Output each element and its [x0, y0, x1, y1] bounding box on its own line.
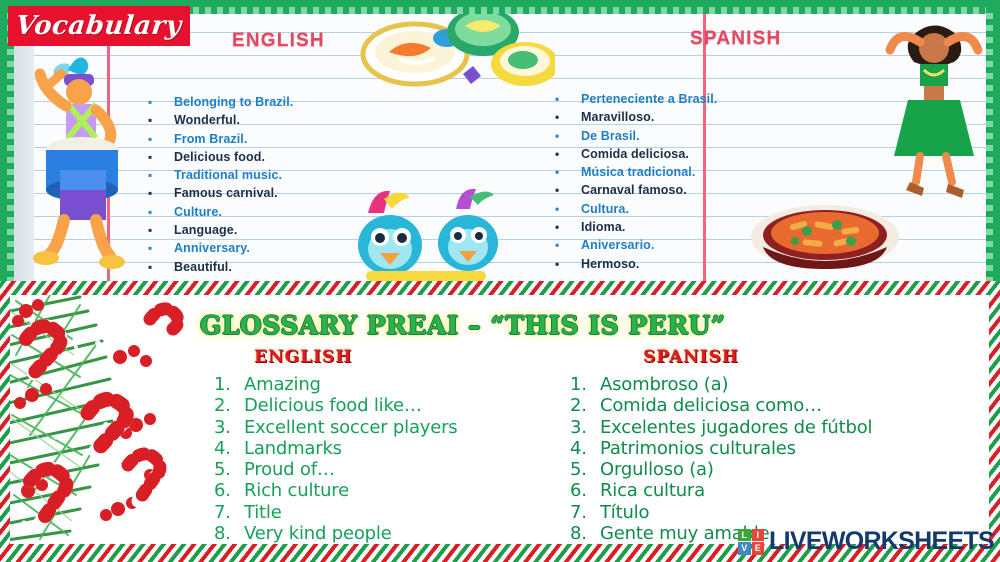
bullet-icon: ▪ — [148, 148, 174, 166]
bullet-icon: • — [555, 163, 581, 181]
glossary-item: 2.Delicious food like… — [214, 395, 554, 416]
glossary-item-label: Rica cultura — [600, 480, 705, 501]
worksheet-page: Vocabulary ENGLISH SPANISH ▪Belonging to… — [0, 0, 1000, 562]
bullet-icon: ▪ — [148, 203, 174, 221]
glossary-item: 1.Asombroso (a) — [570, 374, 950, 395]
bullet-icon: • — [555, 218, 581, 236]
glossary-item: 7.Title — [214, 502, 554, 523]
glossary-item-number: 5. — [570, 459, 600, 480]
vocabulary-item: •Idioma. — [555, 218, 835, 236]
glossary-item-label: Patrimonios culturales — [600, 438, 796, 459]
vocabulary-item-label: Carnaval famoso. — [581, 181, 687, 199]
vocabulary-item-label: Beautiful. — [174, 258, 232, 276]
spanish-column-header: SPANISH — [690, 28, 781, 50]
bullet-icon: • — [555, 127, 581, 145]
vocabulary-item-label: Maravilloso. — [581, 108, 654, 126]
vocabulary-item: ▪Language. — [148, 221, 398, 239]
glossary-item-label: Asombroso (a) — [600, 374, 728, 395]
glossary-item-number: 3. — [214, 417, 244, 438]
vocabulary-item-label: Language. — [174, 221, 237, 239]
vocabulary-item: ▪Anniversary. — [148, 239, 398, 257]
glossary-item: 5.Orgulloso (a) — [570, 459, 950, 480]
vocabulary-item: •Maravilloso. — [555, 108, 835, 126]
vocabulary-item: •Carnaval famoso. — [555, 181, 835, 199]
vocabulary-banner: Vocabulary — [8, 6, 190, 46]
glossary-item: 8.Very kind people — [214, 523, 554, 544]
glossary-item-number: 2. — [570, 395, 600, 416]
bullet-icon: ▪ — [148, 93, 174, 111]
glossary-panel: GLOSSARY PREAI – “THIS IS PERU” ENGLISH … — [0, 281, 1000, 562]
glossary-item: 2.Comida deliciosa como… — [570, 395, 950, 416]
vocabulary-item: •Comida deliciosa. — [555, 145, 835, 163]
glossary-title: GLOSSARY PREAI – “THIS IS PERU” — [200, 311, 726, 340]
glossary-english-header: ENGLISH — [254, 347, 352, 367]
bullet-icon: • — [555, 90, 581, 108]
vocabulary-item-label: Aniversario. — [581, 236, 654, 254]
glossary-item-label: Amazing — [244, 374, 321, 395]
vocabulary-item-label: Música tradicional. — [581, 163, 695, 181]
bullet-icon: ▪ — [148, 111, 174, 129]
glossary-item-number: 2. — [214, 395, 244, 416]
vocabulary-item: •Música tradicional. — [555, 163, 835, 181]
logo-letter-v: V — [738, 542, 751, 555]
glossary-item-number: 7. — [570, 502, 600, 523]
glossary-item: 5.Proud of… — [214, 459, 554, 480]
vocabulary-item-label: Traditional music. — [174, 166, 282, 184]
glossary-item-number: 5. — [214, 459, 244, 480]
glossary-item-label: Excelentes jugadores de fútbol — [600, 417, 872, 438]
glossary-spanish-list: 1.Asombroso (a)2.Comida deliciosa como…3… — [570, 374, 950, 544]
logo-letter-i: I — [752, 529, 765, 542]
glossary-item-label: Very kind people — [244, 523, 392, 544]
logo-letter-e: E — [752, 542, 765, 555]
vocabulary-item-label: Hermoso. — [581, 255, 639, 273]
vocabulary-item-label: Cultura. — [581, 200, 629, 218]
bullet-icon: • — [555, 236, 581, 254]
bullet-icon: • — [555, 181, 581, 199]
glossary-item-label: Delicious food like… — [244, 395, 422, 416]
vocabulary-item-label: Wonderful. — [174, 111, 240, 129]
vocabulary-item-label: From Brazil. — [174, 130, 247, 148]
vocabulary-item-label: Perteneciente a Brasil. — [581, 90, 717, 108]
glossary-item-number: 6. — [570, 480, 600, 501]
glossary-item-label: Excellent soccer players — [244, 417, 458, 438]
glossary-item-number: 4. — [214, 438, 244, 459]
spanish-vocabulary-list: •Perteneciente a Brasil.•Maravilloso.•De… — [555, 90, 835, 273]
bullet-icon: • — [555, 108, 581, 126]
vocabulary-item: ▪Belonging to Brazil. — [148, 93, 398, 111]
vocabulary-banner-label: Vocabulary — [15, 11, 184, 41]
liveworksheets-watermark: LIVE LIVEWORKSHEETS — [738, 527, 994, 556]
glossary-item: 6.Rica cultura — [570, 480, 950, 501]
vocabulary-item: ▪Traditional music. — [148, 166, 398, 184]
liveworksheets-label: LIVEWORKSHEETS — [769, 527, 994, 556]
bullet-icon: ▪ — [148, 130, 174, 148]
vocabulary-item-label: De Brasil. — [581, 127, 640, 145]
glossary-content-area: GLOSSARY PREAI – “THIS IS PERU” ENGLISH … — [10, 295, 989, 544]
glossary-item-number: 1. — [214, 374, 244, 395]
glossary-item-number: 3. — [570, 417, 600, 438]
vocabulary-item: ▪Famous carnival. — [148, 184, 398, 202]
glossary-item: 3.Excelentes jugadores de fútbol — [570, 417, 950, 438]
glossary-item-label: Título — [600, 502, 649, 523]
glossary-item-label: Orgulloso (a) — [600, 459, 714, 480]
vocabulary-item: ▪Delicious food. — [148, 148, 398, 166]
glossary-item-label: Title — [244, 502, 282, 523]
bullet-icon: ▪ — [148, 184, 174, 202]
bullet-icon: ▪ — [148, 221, 174, 239]
glossary-item-label: Comida deliciosa como… — [600, 395, 822, 416]
bullet-icon: ▪ — [148, 239, 174, 257]
bullet-icon: • — [555, 255, 581, 273]
english-column-header: ENGLISH — [232, 30, 325, 52]
glossary-item-label: Proud of… — [244, 459, 335, 480]
vocabulary-item: ▪Beautiful. — [148, 258, 398, 276]
vocabulary-item: ▪Wonderful. — [148, 111, 398, 129]
vocabulary-item: •Hermoso. — [555, 255, 835, 273]
vocabulary-item: •Cultura. — [555, 200, 835, 218]
vocabulary-panel: Vocabulary ENGLISH SPANISH ▪Belonging to… — [0, 0, 1000, 281]
glossary-item: 4.Landmarks — [214, 438, 554, 459]
logo-letter-l: L — [738, 529, 751, 542]
glossary-item: 6.Rich culture — [214, 480, 554, 501]
vocabulary-item: ▪From Brazil. — [148, 130, 398, 148]
vocabulary-item-label: Anniversary. — [174, 239, 250, 257]
bullet-icon: ▪ — [148, 258, 174, 276]
glossary-item-number: 4. — [570, 438, 600, 459]
glossary-item: 7.Título — [570, 502, 950, 523]
vocabulary-item-label: Idioma. — [581, 218, 625, 236]
glossary-item-number: 1. — [570, 374, 600, 395]
vocabulary-item-label: Delicious food. — [174, 148, 265, 166]
bullet-icon: ▪ — [148, 166, 174, 184]
glossary-item-number: 6. — [214, 480, 244, 501]
vocabulary-item: ▪Culture. — [148, 203, 398, 221]
glossary-spanish-header: SPANISH — [643, 347, 739, 367]
vocabulary-item-label: Famous carnival. — [174, 184, 278, 202]
glossary-item-number: 8. — [214, 523, 244, 544]
vocabulary-item-label: Culture. — [174, 203, 222, 221]
liveworksheets-logo-icon: LIVE — [738, 529, 764, 555]
glossary-item: 4.Patrimonios culturales — [570, 438, 950, 459]
vocabulary-item: •Perteneciente a Brasil. — [555, 90, 835, 108]
glossary-item-label: Rich culture — [244, 480, 349, 501]
vocabulary-item: •Aniversario. — [555, 236, 835, 254]
vocabulary-item-label: Belonging to Brazil. — [174, 93, 293, 111]
english-vocabulary-list: ▪Belonging to Brazil.▪Wonderful.▪From Br… — [148, 93, 398, 276]
pine-branches-candy-canes-border — [10, 295, 192, 544]
bullet-icon: • — [555, 145, 581, 163]
glossary-item: 3.Excellent soccer players — [214, 417, 554, 438]
glossary-item-number: 7. — [214, 502, 244, 523]
glossary-item: 1.Amazing — [214, 374, 554, 395]
glossary-english-list: 1.Amazing2.Delicious food like…3.Excelle… — [214, 374, 554, 544]
paper-gutter — [12, 10, 34, 281]
glossary-item-label: Landmarks — [244, 438, 342, 459]
vocabulary-item-label: Comida deliciosa. — [581, 145, 689, 163]
bullet-icon: • — [555, 200, 581, 218]
vocabulary-item: •De Brasil. — [555, 127, 835, 145]
glossary-item-number: 8. — [570, 523, 600, 544]
